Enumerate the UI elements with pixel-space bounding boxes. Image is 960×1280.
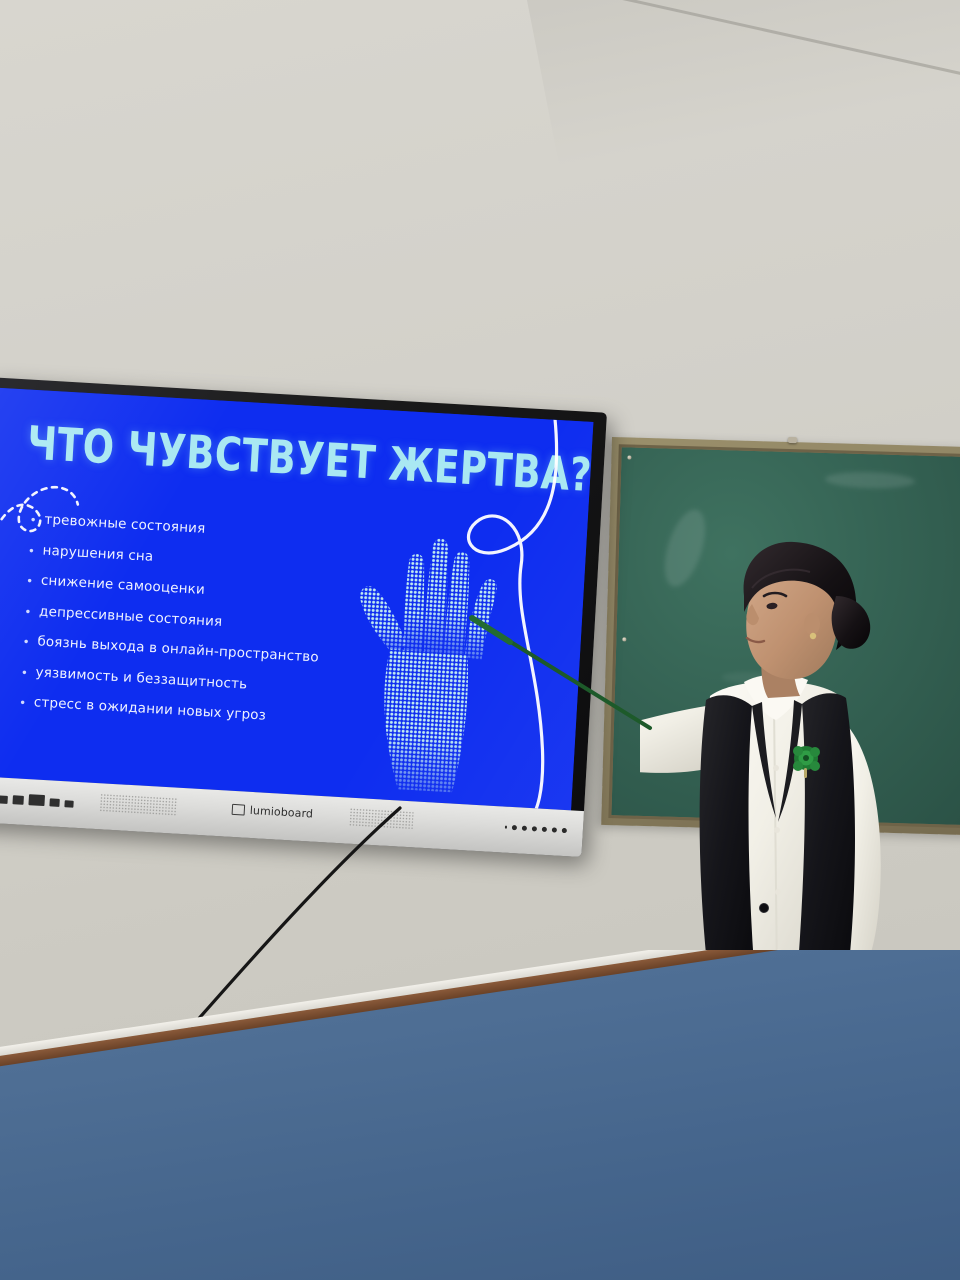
list-item: • нарушения сна <box>29 542 389 578</box>
bullet-marker-icon: • <box>25 603 30 618</box>
bullet-marker-icon: • <box>29 542 34 557</box>
list-item-label: уязвимость и беззащитность <box>35 665 247 692</box>
slide: ЧТО ЧУВСТВУЕТ ЖЕРТВА? • тревожные состоя… <box>0 388 593 811</box>
list-item-label: боязнь выхода в онлайн-пространство <box>37 634 319 665</box>
brand-label: lumioboard <box>249 804 313 821</box>
display-brand: lumioboard <box>231 803 313 821</box>
list-item-label: нарушения сна <box>42 543 153 564</box>
bullet-marker-icon: • <box>20 695 25 710</box>
floor-area <box>0 950 960 1280</box>
slide-title: ЧТО ЧУВСТВУЕТ ЖЕРТВА? <box>26 420 593 498</box>
list-item-label: тревожные состояния <box>44 513 206 537</box>
list-item: • уязвимость и беззащитность <box>22 664 382 700</box>
list-item: • снижение самооценки <box>27 573 387 609</box>
presenter-head <box>744 542 871 679</box>
list-item: • депрессивные состояния <box>25 603 385 639</box>
list-item: • боязнь выхода в онлайн-пространство <box>23 634 383 670</box>
square-logo-icon <box>232 804 246 816</box>
bullet-marker-icon: • <box>30 512 35 527</box>
list-item-label: снижение самооценки <box>40 574 205 598</box>
display-ports[interactable] <box>0 792 74 808</box>
bullet-marker-icon: • <box>22 664 27 679</box>
bullet-marker-icon: • <box>27 573 32 588</box>
green-pointer-stick[interactable] <box>450 608 660 738</box>
sensor-dots <box>504 825 567 834</box>
list-item: • стресс в ожидании новых угроз <box>20 695 380 731</box>
list-item-label: депрессивные состояния <box>39 604 223 630</box>
floor <box>0 950 960 1280</box>
classroom-scene: ЧТО ЧУВСТВУЕТ ЖЕРТВА? • тревожные состоя… <box>0 0 960 1280</box>
list-item: • тревожные состояния <box>30 512 390 548</box>
bullet-marker-icon: • <box>23 634 28 649</box>
list-item-label: стресс в ожидании новых угроз <box>33 695 266 723</box>
display-screen[interactable]: ЧТО ЧУВСТВУЕТ ЖЕРТВА? • тревожные состоя… <box>0 388 593 811</box>
